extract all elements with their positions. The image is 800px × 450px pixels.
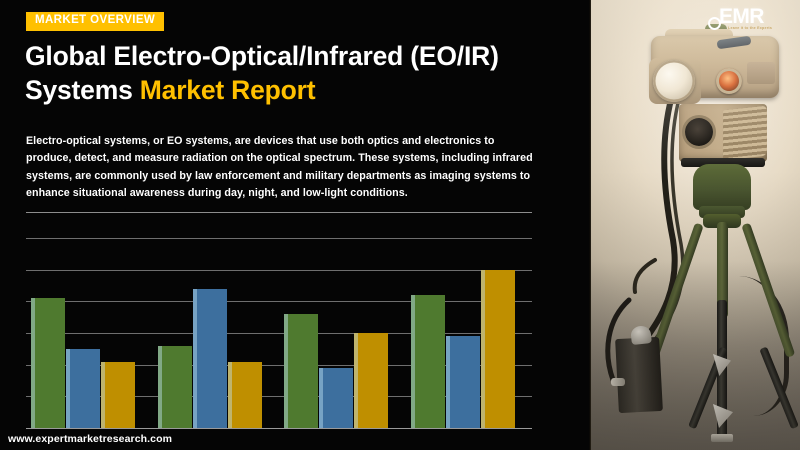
emr-logo-text: EMR: [719, 6, 764, 27]
chart-bar-highlight: [411, 295, 415, 428]
chart-bar: [31, 298, 65, 428]
chart-bar-fill: [284, 314, 318, 428]
chart-bar-fill: [31, 298, 65, 428]
chart-bar-highlight: [31, 298, 35, 428]
chart-bar-fill: [446, 336, 480, 428]
bar-chart: [26, 238, 532, 429]
chart-bar-fill: [66, 349, 100, 428]
chart-bar-highlight: [101, 362, 105, 429]
emr-logo: EMR Leave it to the Experts: [706, 4, 792, 36]
chart-bar-highlight: [228, 362, 232, 429]
chart-bar-fill: [354, 333, 388, 428]
chart-gridline: [26, 270, 532, 271]
panel-edge-divider: [589, 0, 591, 450]
chart-bar: [228, 362, 262, 429]
chart-bar: [354, 333, 388, 428]
chart-gridline: [26, 238, 532, 239]
chart-bar-fill: [158, 346, 192, 428]
chart-bar-highlight: [284, 314, 288, 428]
chart-bar-highlight: [158, 346, 162, 428]
image-vignette: [589, 0, 800, 450]
description-paragraph: Electro-optical systems, or EO systems, …: [26, 133, 538, 202]
chart-bar: [158, 346, 192, 428]
chart-bar-fill: [411, 295, 445, 428]
chart-bar: [319, 368, 353, 428]
chart-gridline: [26, 301, 532, 302]
chart-bar-fill: [193, 289, 227, 428]
chart-bar: [193, 289, 227, 428]
chart-bar-fill: [101, 362, 135, 429]
chart-bar-highlight: [481, 270, 485, 428]
chart-bar: [481, 270, 515, 428]
chart-bar-fill: [481, 270, 515, 428]
chart-bar-highlight: [354, 333, 358, 428]
chart-bar: [411, 295, 445, 428]
chart-bar: [101, 362, 135, 429]
chart-x-axis: [26, 428, 532, 429]
divider: [26, 212, 532, 213]
chart-bar-highlight: [66, 349, 70, 428]
market-report-banner: MARKET OVERVIEW Global Electro-Optical/I…: [0, 0, 800, 450]
chart-gridline: [26, 333, 532, 334]
chart-bar-highlight: [319, 368, 323, 428]
page-title-line2: Systems: [25, 75, 140, 105]
market-overview-badge: MARKET OVERVIEW: [26, 12, 164, 31]
website-footer: www.expertmarketresearch.com: [8, 433, 172, 445]
product-image-panel: [589, 0, 800, 450]
chart-bar-fill: [319, 368, 353, 428]
page-title-line1: Global Electro-Optical/Infrared (EO/IR): [25, 41, 499, 71]
chart-bar-highlight: [446, 336, 450, 428]
chart-bar-fill: [228, 362, 262, 429]
emr-logo-tagline: Leave it to the Experts: [728, 26, 772, 30]
chart-bar: [446, 336, 480, 428]
chart-bar-highlight: [193, 289, 197, 428]
chart-bar: [66, 349, 100, 428]
page-title: Global Electro-Optical/Infrared (EO/IR) …: [25, 40, 570, 108]
page-title-accent: Market Report: [140, 75, 316, 105]
chart-bar: [284, 314, 318, 428]
content-panel: MARKET OVERVIEW Global Electro-Optical/I…: [0, 0, 589, 450]
